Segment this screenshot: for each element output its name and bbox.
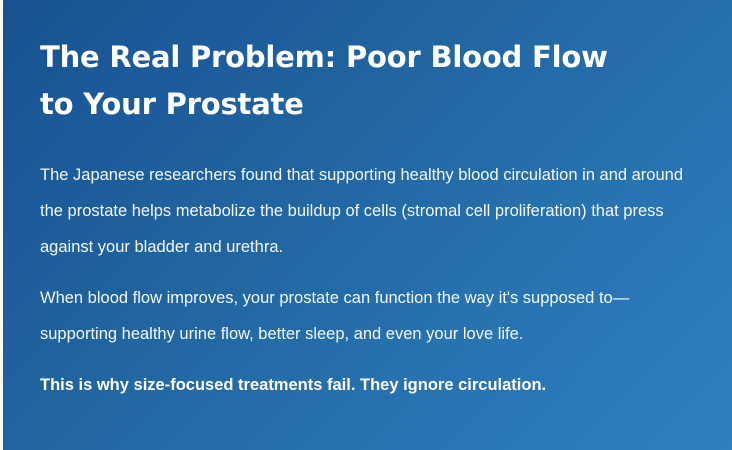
- paragraph-benefit-outcome: When blood flow improves, your prostate …: [40, 280, 696, 352]
- paragraph-research-finding: The Japanese researchers found that supp…: [40, 157, 696, 265]
- screenshot-root: The Real Problem: Poor Blood Flow to You…: [0, 0, 732, 450]
- promo-card-inner: The Real Problem: Poor Blood Flow to You…: [40, 34, 696, 403]
- paragraph-conclusion: This is why size-focused treatments fail…: [40, 367, 696, 403]
- promo-content-card: The Real Problem: Poor Blood Flow to You…: [3, 0, 732, 450]
- page-title: The Real Problem: Poor Blood Flow to You…: [40, 34, 640, 128]
